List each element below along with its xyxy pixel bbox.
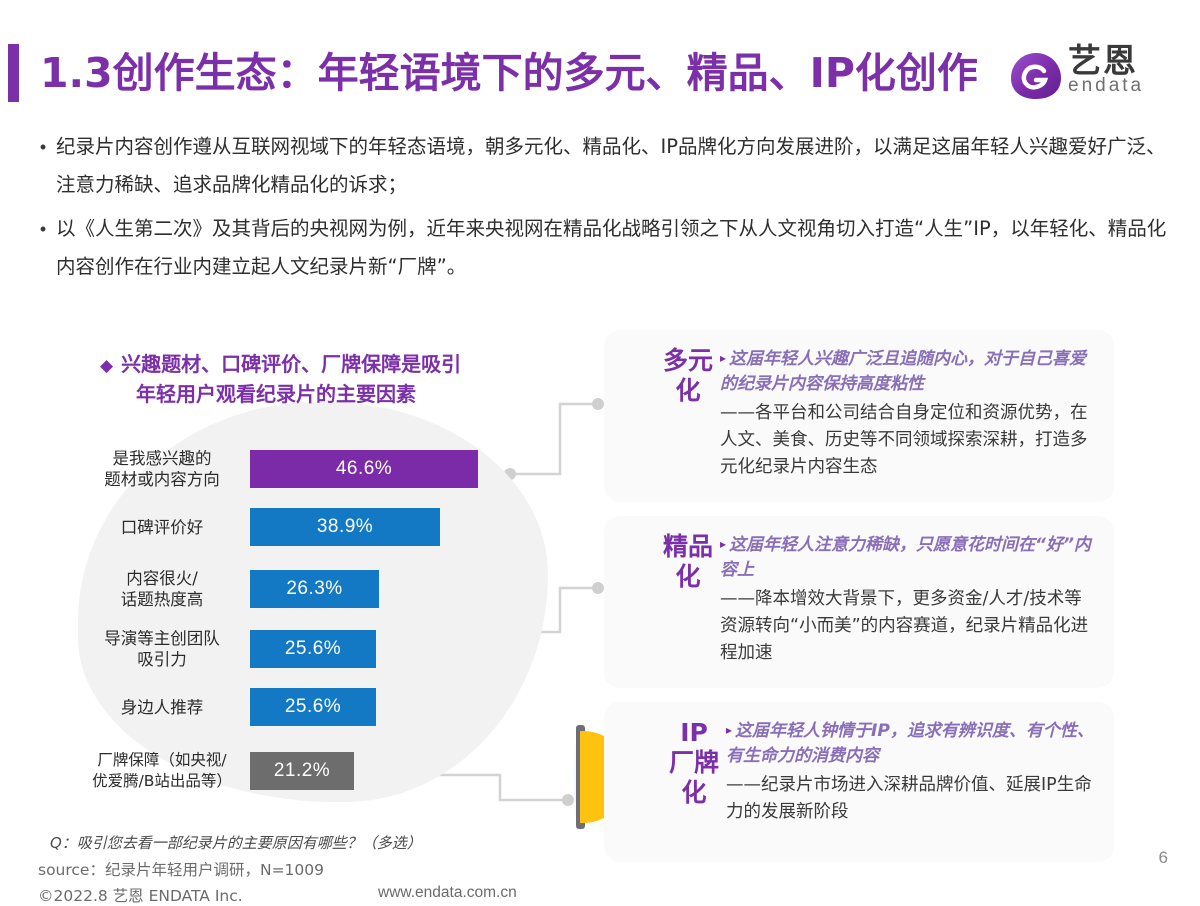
card-sub-text: ——纪录片市场进入深耕品牌价值、延展IP生命力的发展新阶段 bbox=[726, 772, 1098, 826]
bullet-text: 纪录片内容创作遵从互联网视域下的年轻态语境，朝多元化、精品化、IP品牌化方向发展… bbox=[56, 128, 1170, 204]
category-label: 口碑评价好 bbox=[74, 517, 250, 538]
bar-container: 26.3% bbox=[250, 570, 379, 608]
bullet-text: 以《人生第二次》及其背后的央视网为例，近年来央视网在精品化战略引领之下从人文视角… bbox=[56, 210, 1170, 286]
category-label: 厂牌保障（如央视/ 优爱腾/B站出品等） bbox=[74, 750, 250, 792]
category-label-line1: 身边人推荐 bbox=[74, 697, 250, 718]
logo-en-text: endata bbox=[1068, 76, 1144, 96]
category-label: 身边人推荐 bbox=[74, 697, 250, 718]
bullet-marker: • bbox=[30, 210, 56, 286]
bar-container: 25.6% bbox=[250, 688, 376, 726]
card-sub-text: ——各平台和公司结合自身定位和资源优势，在人文、美食、历史等不同领域探索深耕，打… bbox=[720, 400, 1098, 481]
insight-card-diversification: 多元化 ▸这届年轻人兴趣广泛且追随内心，对于自己喜爱的纪录片内容保持高度粘性 —… bbox=[604, 330, 1114, 502]
card-lead-text: ▸这届年轻人钟情于IP，追求有辨识度、有个性、有生命力的消费内容 bbox=[726, 718, 1098, 769]
slide-header: 1.3创作生态：年轻语境下的多元、精品、IP化创作 艺恩 bbox=[0, 42, 1200, 104]
logo-text: 艺恩 endata bbox=[1068, 44, 1144, 96]
brand-logo: 艺恩 endata bbox=[1010, 46, 1182, 108]
category-label-line2: 题材或内容方向 bbox=[74, 469, 250, 490]
bar: 25.6% bbox=[250, 630, 376, 668]
category-label: 导演等主创团队 吸引力 bbox=[74, 628, 250, 670]
card-lead-text: ▸这届年轻人兴趣广泛且追随内心，对于自己喜爱的纪录片内容保持高度粘性 bbox=[720, 346, 1098, 397]
insight-card-ip-branding: IP厂牌化 ▸这届年轻人钟情于IP，追求有辨识度、有个性、有生命力的消费内容 —… bbox=[604, 702, 1114, 862]
chart-title-line1: 兴趣题材、口碑评价、厂牌保障是吸引 bbox=[121, 352, 461, 376]
triangle-bullet-icon: ▸ bbox=[726, 723, 732, 737]
bar-container: 46.6% bbox=[250, 450, 478, 488]
triangle-bullet-icon: ▸ bbox=[720, 537, 726, 551]
card-keyword: 多元化 bbox=[662, 342, 714, 490]
bullet-marker: • bbox=[30, 128, 56, 204]
category-label-line2: 吸引力 bbox=[74, 649, 250, 670]
chart-title: ◆兴趣题材、口碑评价、厂牌保障是吸引 年轻用户观看纪录片的主要因素 bbox=[100, 350, 570, 408]
endata-e-logo-icon bbox=[1010, 52, 1062, 100]
chart-question-note: Q：吸引您去看一部纪录片的主要原因有哪些？（多选） bbox=[50, 832, 422, 853]
chart-rows: 是我感兴趣的 题材或内容方向 46.6% 口碑评价好 38.9% 内容很火/ bbox=[74, 448, 574, 808]
bar: 21.2% bbox=[250, 752, 354, 790]
chart-row: 身边人推荐 25.6% bbox=[74, 688, 574, 726]
bar: 25.6% bbox=[250, 688, 376, 726]
category-label-line1: 导演等主创团队 bbox=[74, 628, 250, 649]
category-label-line1: 内容很火/ bbox=[74, 568, 250, 589]
bar: 26.3% bbox=[250, 570, 379, 608]
bar-container: 25.6% bbox=[250, 630, 376, 668]
category-label-line1: 是我感兴趣的 bbox=[74, 448, 250, 469]
bullet-list: • 纪录片内容创作遵从互联网视域下的年轻态语境，朝多元化、精品化、IP品牌化方向… bbox=[30, 128, 1170, 292]
card-lead-value: 这届年轻人兴趣广泛且追随内心，对于自己喜爱的纪录片内容保持高度粘性 bbox=[720, 349, 1086, 394]
bullet-item: • 以《人生第二次》及其背后的央视网为例，近年来央视网在精品化战略引领之下从人文… bbox=[30, 210, 1170, 286]
triangle-bullet-icon: ▸ bbox=[720, 351, 726, 365]
category-label-line2: 话题热度高 bbox=[74, 589, 250, 610]
card-lead-value: 这届年轻人注意力稀缺，只愿意花时间在“好”内容上 bbox=[720, 535, 1091, 580]
copyright-note: ©2022.8 艺恩 ENDATA Inc. bbox=[38, 884, 243, 906]
page-number: 6 bbox=[1159, 848, 1168, 868]
card-lead-value: 这届年轻人钟情于IP，追求有辨识度、有个性、有生命力的消费内容 bbox=[726, 721, 1094, 766]
chart-title-line2: 年轻用户观看纪录片的主要因素 bbox=[100, 380, 570, 408]
source-note: source：纪录片年轻用户调研，N=1009 bbox=[38, 858, 324, 880]
card-keyword: 精品化 bbox=[662, 528, 714, 676]
chart-row: 内容很火/ 话题热度高 26.3% bbox=[74, 568, 574, 610]
website-link[interactable]: www.endata.com.cn bbox=[378, 884, 517, 902]
category-label: 是我感兴趣的 题材或内容方向 bbox=[74, 448, 250, 490]
header-accent-bar bbox=[8, 44, 19, 102]
chart-row: 是我感兴趣的 题材或内容方向 46.6% bbox=[74, 448, 574, 490]
bar: 38.9% bbox=[250, 508, 440, 546]
chart-panel: ◆兴趣题材、口碑评价、厂牌保障是吸引 年轻用户观看纪录片的主要因素 是我感兴趣的… bbox=[60, 340, 580, 840]
insight-card-premiumization: 精品化 ▸这届年轻人注意力稀缺，只愿意花时间在“好”内容上 ——降本增效大背景下… bbox=[604, 516, 1114, 688]
category-label: 内容很火/ 话题热度高 bbox=[74, 568, 250, 610]
logo-cn-text: 艺恩 bbox=[1068, 44, 1144, 78]
chart-row: 口碑评价好 38.9% bbox=[74, 508, 574, 546]
page-title: 1.3创作生态：年轻语境下的多元、精品、IP化创作 bbox=[40, 39, 978, 99]
bar: 46.6% bbox=[250, 450, 478, 488]
chart-row: 厂牌保障（如央视/ 优爱腾/B站出品等） 21.2% bbox=[74, 750, 574, 792]
diamond-icon: ◆ bbox=[100, 356, 113, 376]
bar-container: 38.9% bbox=[250, 508, 440, 546]
chart-row: 导演等主创团队 吸引力 25.6% bbox=[74, 628, 574, 670]
slide-root: 1.3创作生态：年轻语境下的多元、精品、IP化创作 艺恩 bbox=[0, 0, 1200, 900]
bullet-item: • 纪录片内容创作遵从互联网视域下的年轻态语境，朝多元化、精品化、IP品牌化方向… bbox=[30, 128, 1170, 204]
category-label-line1: 口碑评价好 bbox=[74, 517, 250, 538]
category-label-line1: 厂牌保障（如央视/ bbox=[74, 750, 250, 771]
card-keyword: IP厂牌化 bbox=[668, 714, 720, 850]
category-label-line2: 优爱腾/B站出品等） bbox=[74, 771, 250, 792]
card-sub-text: ——降本增效大背景下，更多资金/人才/技术等资源转向“小而美”的内容赛道，纪录片… bbox=[720, 586, 1098, 667]
bar-container: 21.2% bbox=[250, 752, 354, 790]
card-lead-text: ▸这届年轻人注意力稀缺，只愿意花时间在“好”内容上 bbox=[720, 532, 1098, 583]
